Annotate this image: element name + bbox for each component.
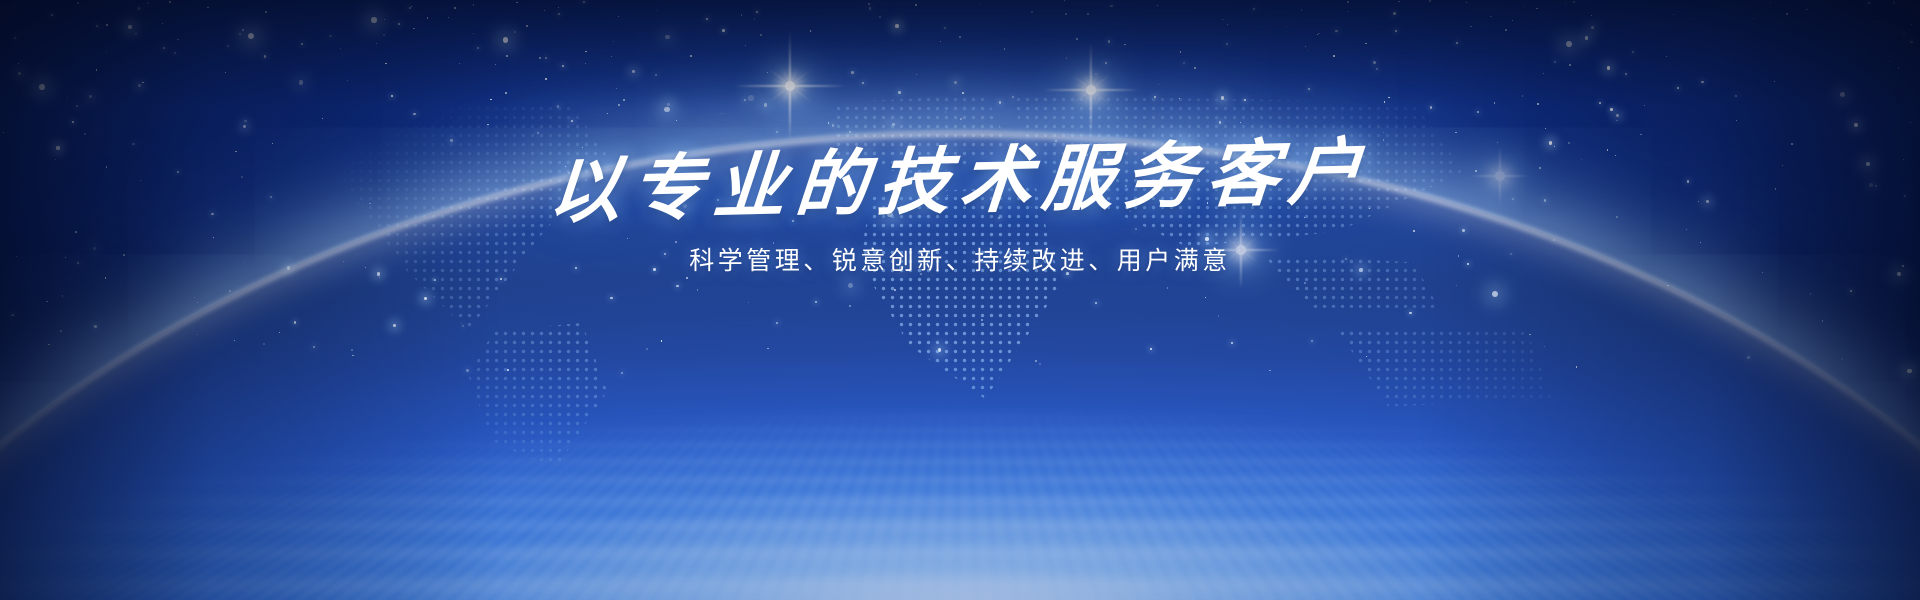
city-light-grid (0, 360, 1920, 600)
hero-copy: 以专业的技术服务客户 科学管理、锐意创新、持续改进、用户满意 (0, 146, 1920, 279)
hero-banner: 以专业的技术服务客户 科学管理、锐意创新、持续改进、用户满意 (0, 0, 1920, 600)
hero-subheadline: 科学管理、锐意创新、持续改进、用户满意 (0, 244, 1920, 279)
city-light-rays (0, 370, 1920, 600)
